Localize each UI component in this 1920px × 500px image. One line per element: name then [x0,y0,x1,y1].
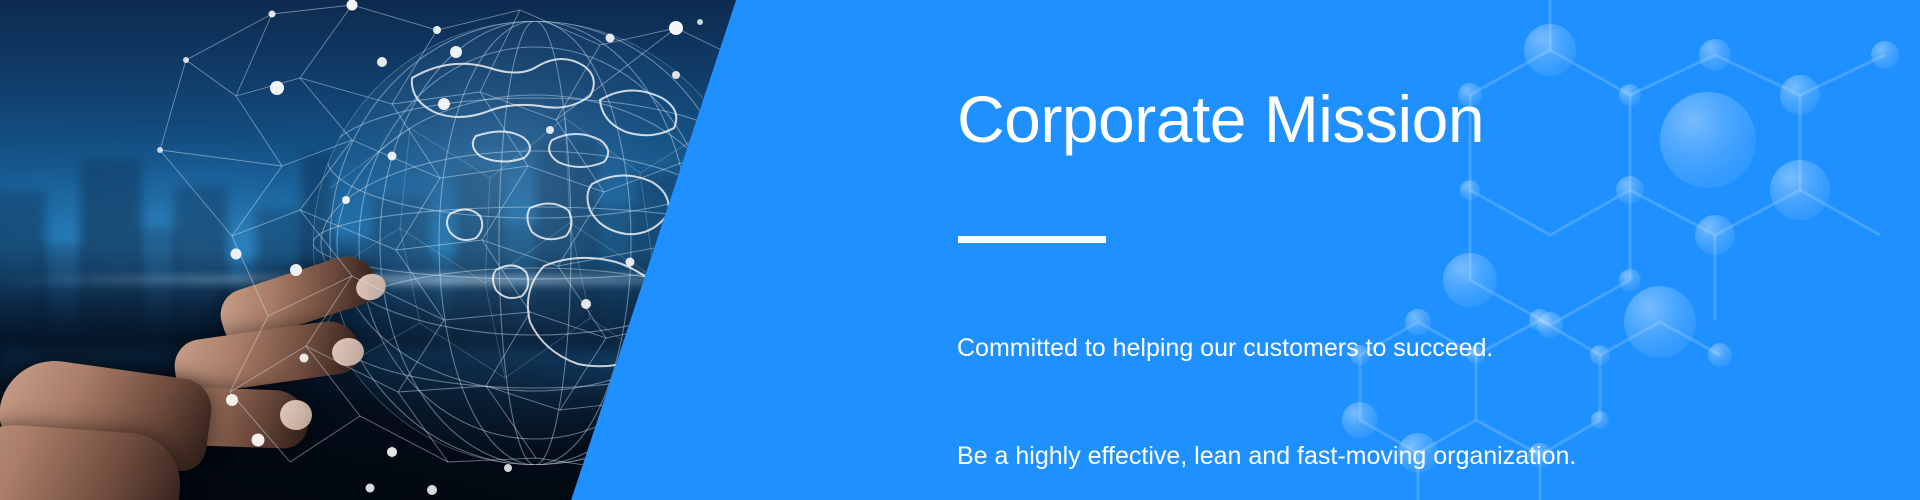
page-title: Corporate Mission [957,86,1484,152]
mission-statement: Committed to helping our customers to su… [957,258,1599,500]
corporate-mission-banner: Corporate Mission Committed to helping o… [0,0,1920,500]
mission-line: Committed to helping our customers to su… [957,330,1599,366]
mission-line: Be a highly effective, lean and fast-mov… [957,438,1599,474]
title-divider [958,236,1106,243]
text-content: Corporate Mission Committed to helping o… [957,0,1857,500]
